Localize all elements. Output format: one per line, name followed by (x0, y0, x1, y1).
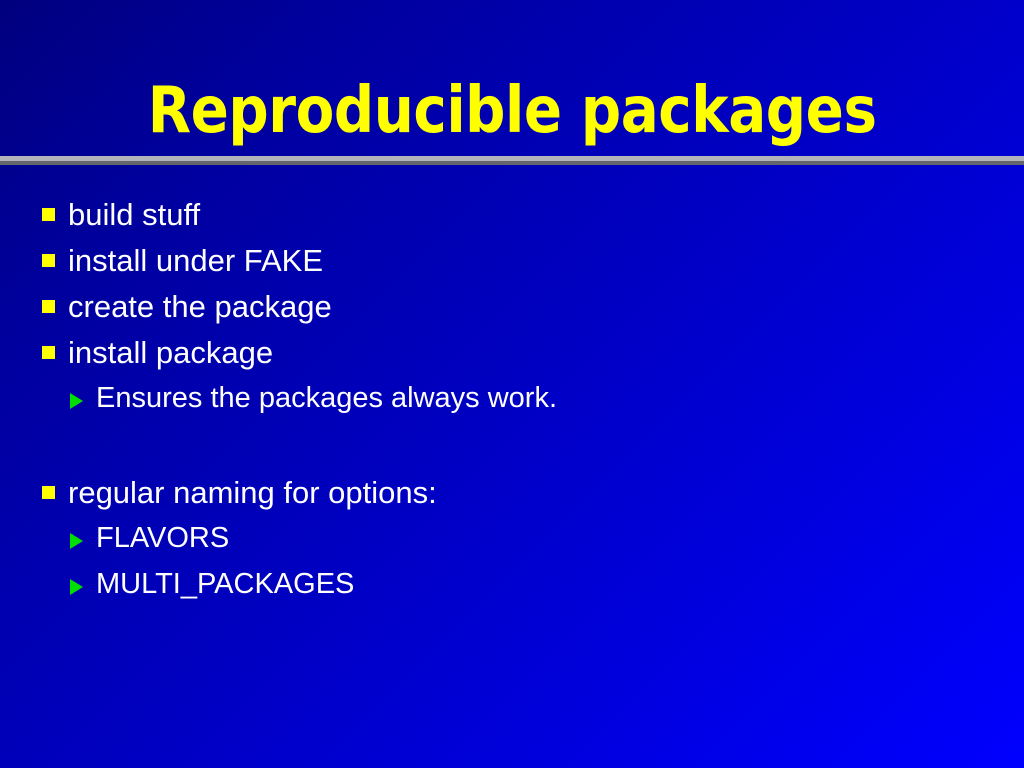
page-title: Reproducible packages (148, 72, 877, 150)
title-divider (0, 156, 1024, 165)
sub-list-item-label: Ensures the packages always work. (96, 380, 557, 416)
list-item: install package (0, 334, 1024, 380)
list-item: create the package (0, 288, 1024, 334)
list-item: build stuff (0, 196, 1024, 242)
square-bullet-icon (42, 346, 55, 359)
list-item-label: regular naming for options: (68, 474, 437, 512)
square-bullet-icon (42, 300, 55, 313)
list-item: regular naming for options: (0, 474, 1024, 520)
square-bullet-icon (42, 254, 55, 267)
sub-list-item: MULTI_PACKAGES (0, 566, 1024, 612)
slide-title-area: Reproducible packages (0, 72, 1024, 154)
sub-list-item-label: FLAVORS (96, 520, 229, 556)
triangle-bullet-icon (70, 579, 83, 595)
square-bullet-icon (42, 486, 55, 499)
triangle-bullet-icon (70, 533, 83, 549)
list-item-label: build stuff (68, 196, 200, 234)
list-item-label: install under FAKE (68, 242, 323, 280)
list-item-label: install package (68, 334, 273, 372)
sub-list-item: FLAVORS (0, 520, 1024, 566)
square-bullet-icon (42, 208, 55, 221)
presentation-slide: Reproducible packages build stuff instal… (0, 0, 1024, 768)
divider-dark-band (0, 161, 1024, 165)
sub-list-item: Ensures the packages always work. (0, 380, 1024, 426)
slide-body-bullet-list: build stuff install under FAKE create th… (0, 196, 1024, 612)
list-item: install under FAKE (0, 242, 1024, 288)
sub-list-item-label: MULTI_PACKAGES (96, 566, 354, 602)
triangle-bullet-icon (70, 393, 83, 409)
list-spacer (0, 426, 1024, 474)
list-item-label: create the package (68, 288, 332, 326)
